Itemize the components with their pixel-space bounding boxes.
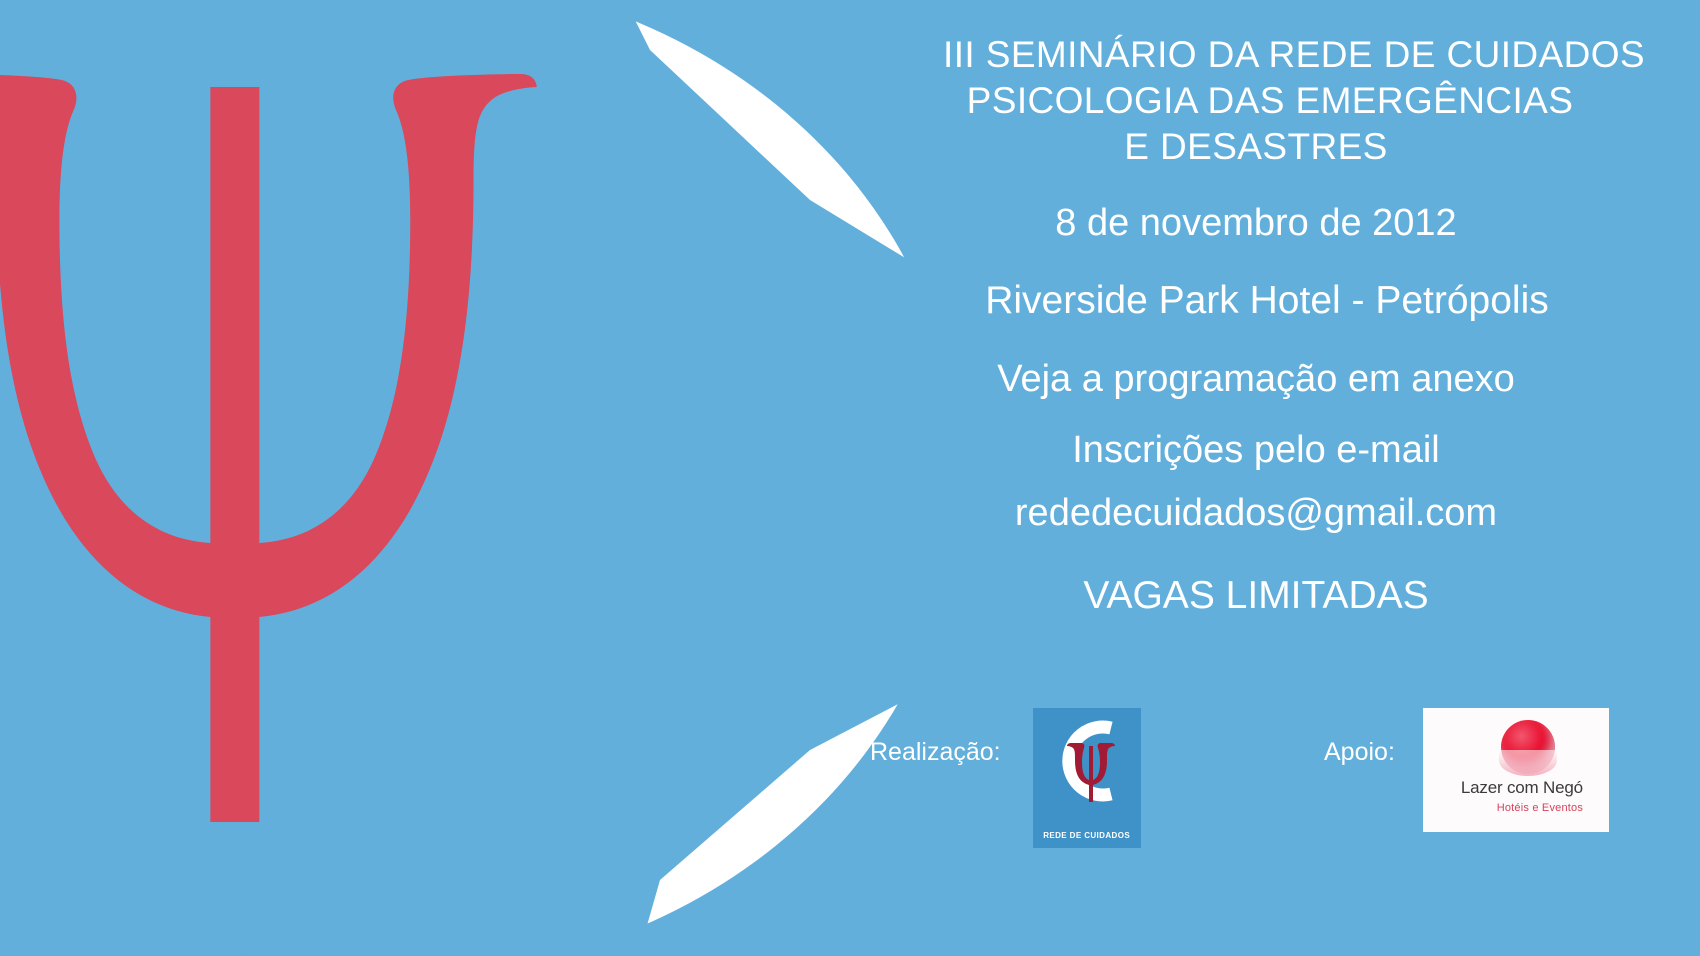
registration-email[interactable]: rededecuidados@gmail.com [812, 482, 1700, 544]
apoio-label: Apoio: [1324, 708, 1395, 766]
event-poster: III SEMINÁRIO DA REDE DE CUIDADOS PSICOL… [0, 0, 1700, 956]
event-title: III SEMINÁRIO DA REDE DE CUIDADOS PSICOL… [812, 0, 1700, 170]
title-line-1: III SEMINÁRIO DA REDE DE CUIDADOS [888, 32, 1700, 78]
poster-content: III SEMINÁRIO DA REDE DE CUIDADOS PSICOL… [812, 0, 1700, 956]
sponsor-group-realizacao: Realização: REDE DE CUIDADOS [870, 708, 1141, 848]
rdc-logo-caption: REDE DE CUIDADOS [1033, 831, 1141, 840]
lcn-sphere-icon [1501, 720, 1555, 774]
psi-glyph [0, 74, 537, 822]
title-spacer [812, 170, 1700, 184]
lcn-logo-name: Lazer com Negó [1429, 778, 1609, 798]
sponsor-row: Realização: REDE DE CUIDADOS Apoio: [812, 690, 1700, 956]
rdc-logo-art [1033, 708, 1141, 820]
event-program-note: Veja a programação em anexo [812, 340, 1700, 418]
realizacao-label: Realização: [870, 708, 1001, 766]
event-venue: Riverside Park Hotel - Petrópolis [834, 262, 1700, 340]
registration-label: Inscrições pelo e-mail [812, 418, 1700, 482]
lazer-com-negocios-logo: Lazer com Negó Hotéis e Eventos [1423, 708, 1609, 832]
rede-de-cuidados-logo: REDE DE CUIDADOS [1033, 708, 1141, 848]
title-line-3: E DESASTRES [812, 124, 1700, 170]
lcn-logo-subtitle: Hotéis e Eventos [1447, 802, 1609, 814]
title-line-2: PSICOLOGIA DAS EMERGÊNCIAS [840, 78, 1700, 124]
limited-seats-notice: VAGAS LIMITADAS [812, 572, 1700, 620]
sponsor-group-apoio: Apoio: Lazer com Negó Hotéis e Eventos [1324, 708, 1609, 832]
event-date: 8 de novembro de 2012 [812, 184, 1700, 262]
